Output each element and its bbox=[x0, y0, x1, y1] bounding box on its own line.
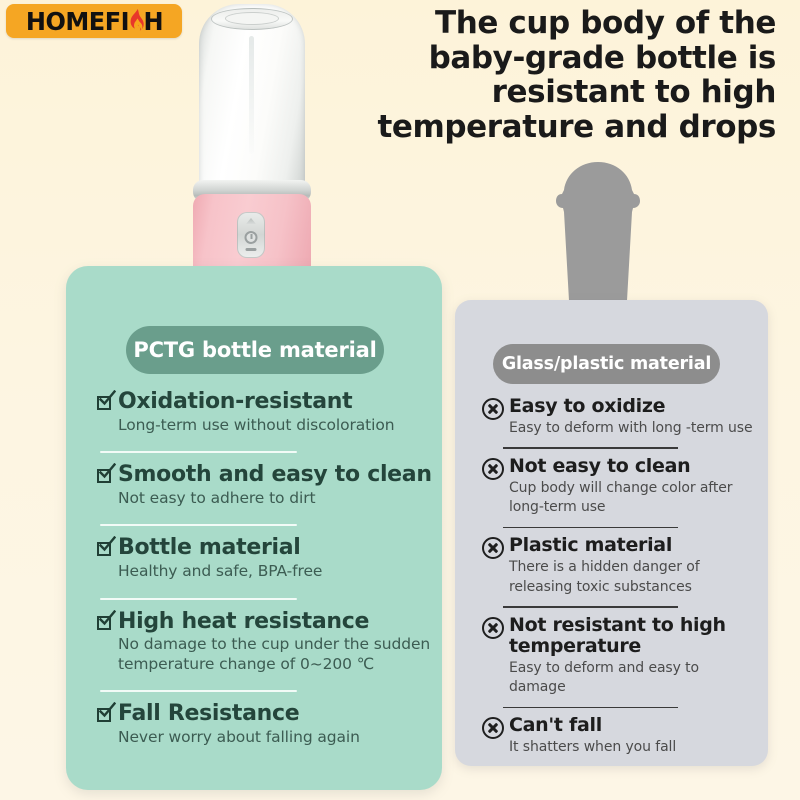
list-item: Oxidation-resistantLong-term use without… bbox=[92, 390, 432, 444]
list-item: Plastic materialThere is a hidden danger… bbox=[477, 535, 759, 601]
list-divider bbox=[100, 524, 297, 526]
list-divider bbox=[100, 451, 297, 453]
feature-subtitle: There is a hidden danger of releasing to… bbox=[509, 559, 700, 595]
feature-title: Oxidation-resistant bbox=[118, 389, 352, 414]
circle-x-icon bbox=[482, 617, 504, 639]
feature-subtitle: Never worry about falling again bbox=[118, 728, 360, 746]
checkbox-check-icon bbox=[97, 706, 114, 723]
list-divider bbox=[100, 598, 297, 600]
blender-cup-highlight bbox=[249, 36, 254, 154]
pctg-material-badge: PCTG bottle material bbox=[126, 326, 384, 374]
list-divider bbox=[503, 527, 678, 529]
list-item: Not resistant to high temperatureEasy to… bbox=[477, 615, 759, 702]
feature-title: Not resistant to high temperature bbox=[509, 614, 726, 657]
list-item: Easy to oxidizeEasy to deform with long … bbox=[477, 396, 759, 442]
feature-title: Not easy to clean bbox=[509, 455, 690, 477]
circle-x-icon bbox=[482, 458, 504, 480]
glass-plastic-material-badge: Glass/plastic material bbox=[493, 344, 720, 384]
circle-x-icon bbox=[482, 717, 504, 739]
feature-title: Smooth and easy to clean bbox=[118, 462, 432, 487]
feature-title: Plastic material bbox=[509, 534, 672, 556]
list-item: Can't fallIt shatters when you fall bbox=[477, 715, 759, 761]
pctg-feature-list: Oxidation-resistantLong-term use without… bbox=[92, 390, 432, 757]
feature-title: Easy to oxidize bbox=[509, 395, 665, 417]
blender-battery-indicator-icon bbox=[246, 248, 257, 251]
brand-logo: HOMEFI H bbox=[6, 4, 182, 38]
feature-title: Can't fall bbox=[509, 714, 602, 736]
blender-power-button-icon bbox=[245, 231, 258, 244]
blender-control-panel bbox=[237, 212, 265, 258]
flame-icon bbox=[128, 8, 144, 34]
glass-plastic-feature-list: Easy to oxidizeEasy to deform with long … bbox=[477, 396, 759, 761]
feature-subtitle: Easy to deform with long -term use bbox=[509, 420, 753, 436]
feature-title: Bottle material bbox=[118, 535, 301, 560]
feature-title: Fall Resistance bbox=[118, 701, 299, 726]
checkbox-check-icon bbox=[97, 467, 114, 484]
list-item: Smooth and easy to cleanNot easy to adhe… bbox=[92, 463, 432, 517]
checkbox-check-icon bbox=[97, 614, 114, 631]
feature-subtitle: Easy to deform and easy to damage bbox=[509, 660, 699, 696]
blender-cup-inner-rim bbox=[225, 12, 279, 25]
glass-plastic-material-card: Glass/plastic material Easy to oxidizeEa… bbox=[455, 300, 768, 766]
list-item: Not easy to cleanCup body will change co… bbox=[477, 456, 759, 522]
list-item: Bottle materialHealthy and safe, BPA-fre… bbox=[92, 536, 432, 590]
blender-indicator-icon bbox=[246, 218, 256, 224]
circle-x-icon bbox=[482, 537, 504, 559]
list-divider bbox=[503, 707, 678, 709]
list-divider bbox=[100, 690, 297, 692]
brand-logo-text-part2: OMEFI bbox=[45, 7, 129, 36]
checkbox-check-icon bbox=[97, 540, 114, 557]
feature-subtitle: No damage to the cup under the sudden te… bbox=[118, 635, 430, 673]
infographic-page: HOMEFI H The cup body of the baby-grade … bbox=[0, 0, 800, 800]
brand-logo-text-part1: H bbox=[25, 7, 45, 36]
product-image-blender bbox=[191, 0, 313, 290]
list-divider bbox=[503, 447, 678, 449]
brand-logo-text: HOMEFI H bbox=[25, 7, 162, 36]
feature-subtitle: Not easy to adhere to dirt bbox=[118, 489, 315, 507]
feature-subtitle: Cup body will change color after long-te… bbox=[509, 480, 732, 516]
circle-x-icon bbox=[482, 398, 504, 420]
feature-subtitle: It shatters when you fall bbox=[509, 739, 676, 755]
brand-logo-text-part3: H bbox=[143, 7, 163, 36]
checkbox-check-icon bbox=[97, 394, 114, 411]
list-item: Fall ResistanceNever worry about falling… bbox=[92, 702, 432, 756]
feature-subtitle: Healthy and safe, BPA-free bbox=[118, 562, 322, 580]
page-title: The cup body of the baby-grade bottle is… bbox=[356, 6, 776, 145]
list-divider bbox=[503, 606, 678, 608]
pctg-material-card: PCTG bottle material Oxidation-resistant… bbox=[66, 266, 442, 790]
list-item: High heat resistanceNo damage to the cup… bbox=[92, 610, 432, 684]
feature-subtitle: Long-term use without discoloration bbox=[118, 416, 394, 434]
feature-title: High heat resistance bbox=[118, 609, 369, 634]
